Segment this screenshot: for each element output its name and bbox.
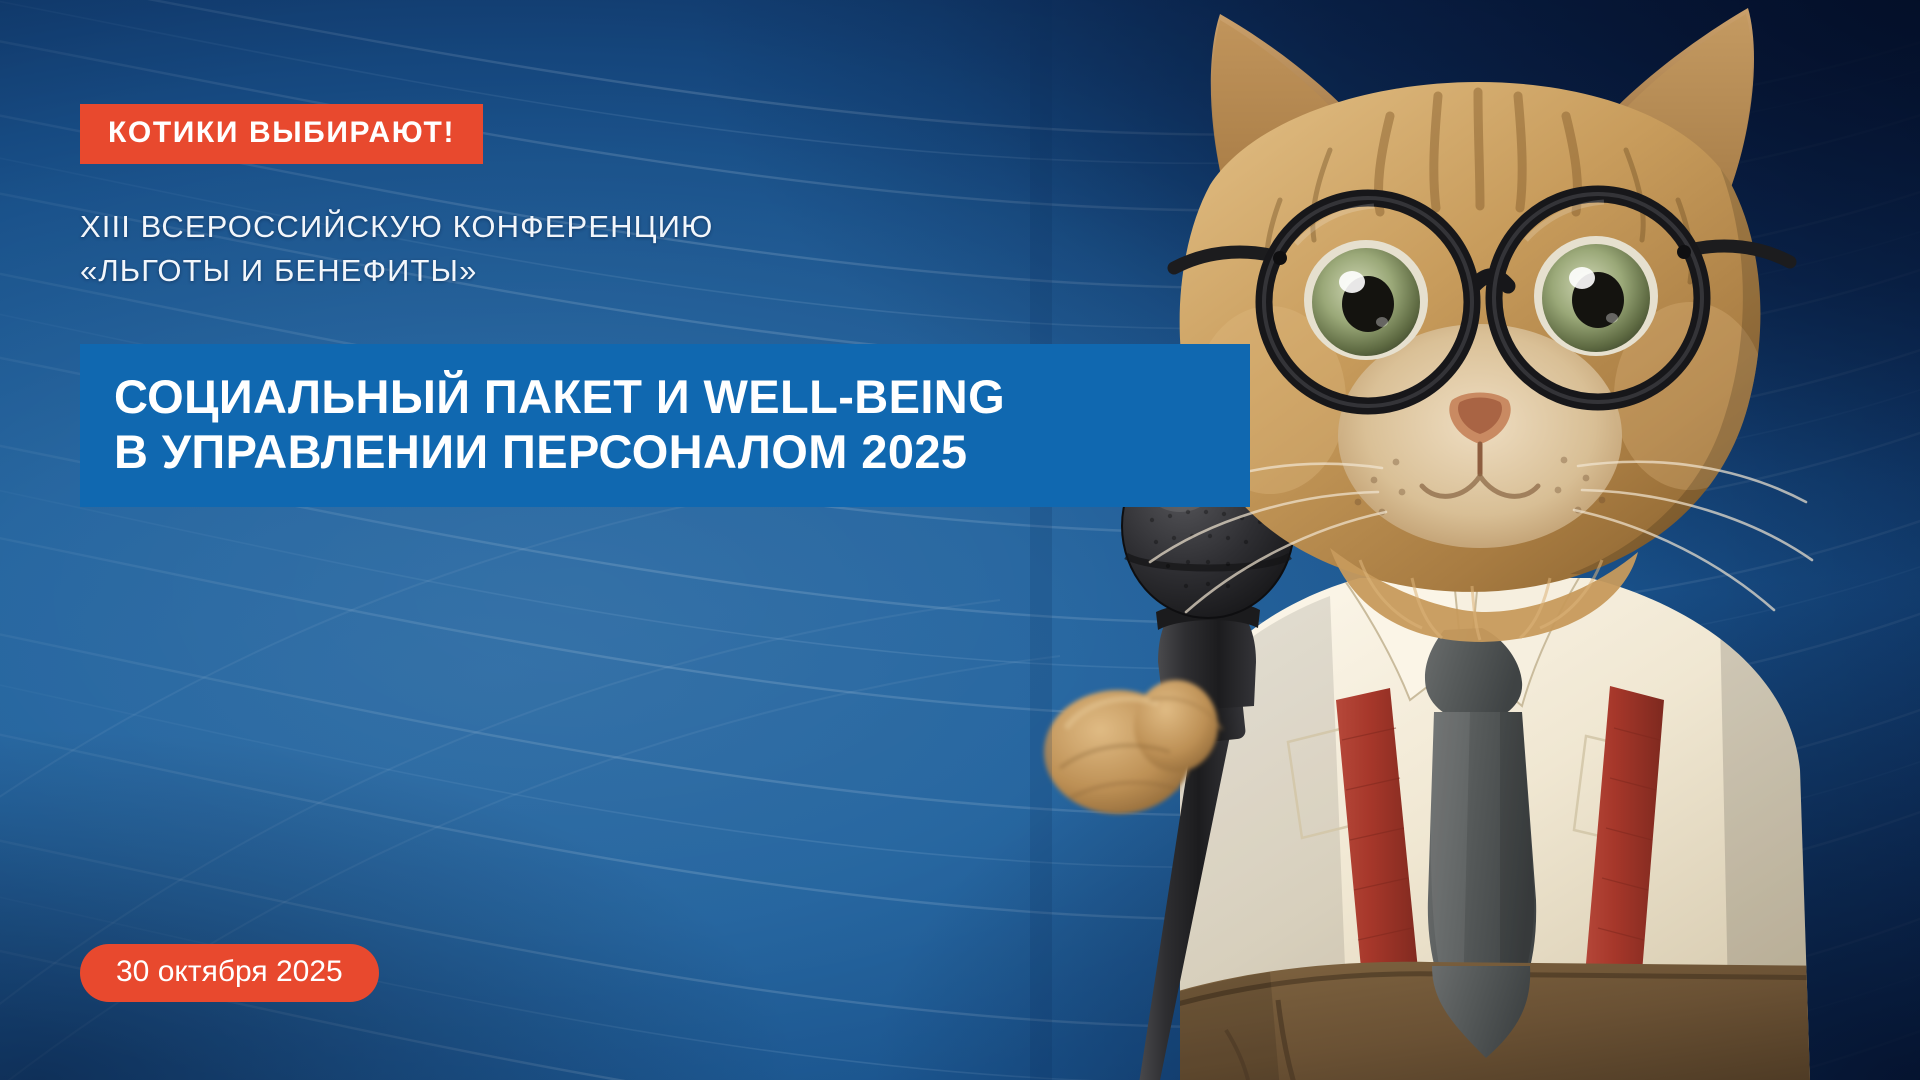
conference-banner: КОТИКИ ВЫБИРАЮТ! XIII ВСЕРОССИЙСКУЮ КОНФ… bbox=[0, 0, 1920, 1080]
eyebrow-badge: КОТИКИ ВЫБИРАЮТ! bbox=[80, 104, 483, 164]
title-line-1: СОЦИАЛЬНЫЙ ПАКЕТ И WELL-BEING bbox=[114, 370, 1216, 425]
trousers bbox=[1150, 962, 1854, 1080]
main-title-box: СОЦИАЛЬНЫЙ ПАКЕТ И WELL-BEING В УПРАВЛЕН… bbox=[80, 344, 1250, 507]
kitten-with-microphone-photo bbox=[1030, 0, 1920, 1080]
banner-text-content: КОТИКИ ВЫБИРАЮТ! XIII ВСЕРОССИЙСКУЮ КОНФ… bbox=[0, 0, 1100, 1080]
title-line-2: В УПРАВЛЕНИИ ПЕРСОНАЛОМ 2025 bbox=[114, 425, 1216, 480]
subtitle-line-2: «ЛЬГОТЫ И БЕНЕФИТЫ» bbox=[80, 249, 713, 293]
event-date-badge: 30 октября 2025 bbox=[80, 944, 379, 1002]
conference-subtitle: XIII ВСЕРОССИЙСКУЮ КОНФЕРЕНЦИЮ «ЛЬГОТЫ И… bbox=[80, 205, 713, 293]
subtitle-line-1: XIII ВСЕРОССИЙСКУЮ КОНФЕРЕНЦИЮ bbox=[80, 205, 713, 249]
